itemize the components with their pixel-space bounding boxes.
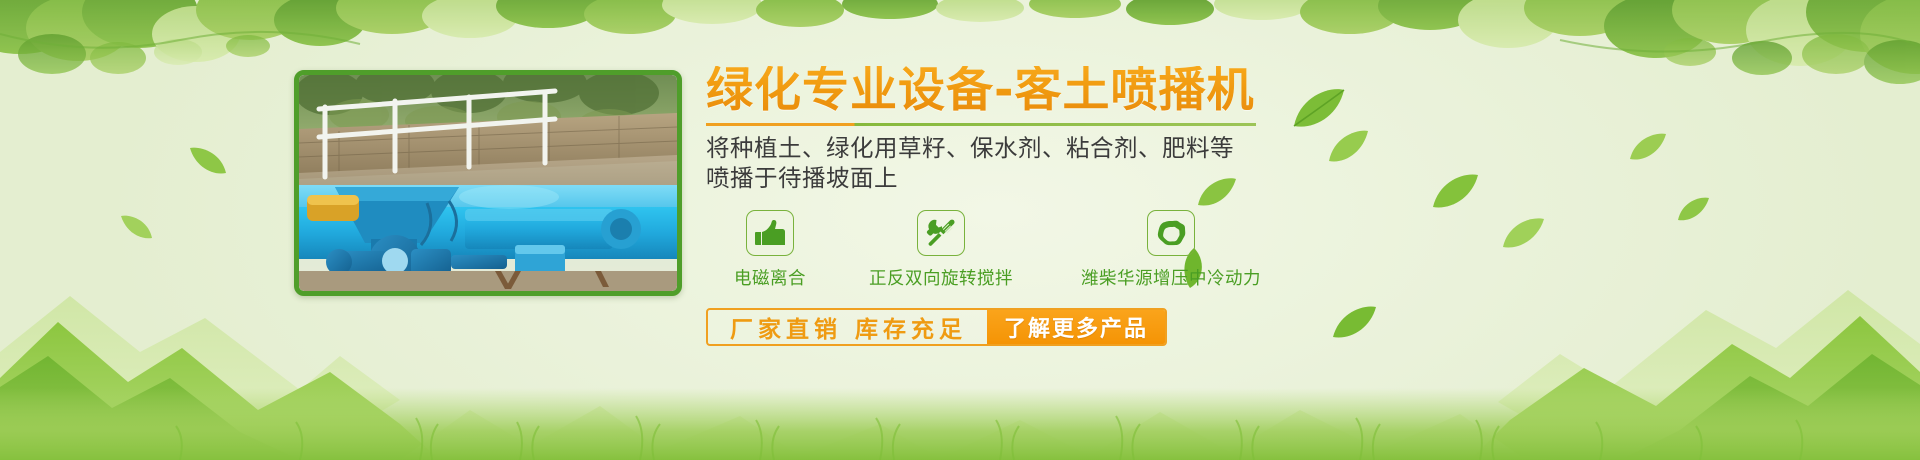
leaf-icon — [1500, 216, 1546, 252]
cta-slogan: 厂家直销 库存充足 — [708, 310, 987, 344]
learn-more-button[interactable]: 了解更多产品 — [987, 310, 1165, 344]
leaf-icon — [120, 214, 154, 242]
page-title: 绿化专业设备-客土喷播机 — [706, 66, 1466, 117]
feature-item: 正反双向旋转搅拌 — [834, 210, 1048, 290]
banner-content: 绿化专业设备-客土喷播机 将种植土、绿化用草籽、保水剂、粘合剂、肥料等 喷播于待… — [706, 66, 1466, 396]
leaf-icon — [1676, 196, 1710, 224]
feature-label: 潍柴华源增压中冷动力 — [1048, 265, 1294, 290]
leaf-icon — [188, 146, 228, 178]
title-divider — [706, 123, 1256, 126]
feature-list: 电磁离合 正反双向旋转搅拌 — [706, 210, 1466, 290]
thumbs-up-glyph — [755, 219, 785, 247]
subtitle-line-1: 将种植土、绿化用草籽、保水剂、粘合剂、肥料等 — [706, 134, 1234, 162]
feature-label: 正反双向旋转搅拌 — [834, 265, 1048, 290]
gear-glyph — [1156, 219, 1186, 247]
subtitle: 将种植土、绿化用草籽、保水剂、粘合剂、肥料等 喷播于待播坡面上 — [706, 133, 1466, 194]
wrench-screwdriver-icon — [917, 210, 965, 256]
feature-label: 电磁离合 — [706, 265, 834, 290]
feature-item: 电磁离合 — [706, 210, 834, 290]
leaf-icon — [1628, 132, 1668, 164]
feature-item: 潍柴华源增压中冷动力 — [1048, 210, 1294, 290]
product-photo-illustration — [299, 75, 677, 291]
product-photo-frame[interactable] — [294, 70, 682, 296]
thumbs-up-icon — [746, 210, 794, 256]
wrench-screwdriver-glyph — [926, 218, 956, 248]
product-photo — [299, 75, 677, 291]
gear-icon — [1147, 210, 1195, 256]
promo-banner: 绿化专业设备-客土喷播机 将种植土、绿化用草籽、保水剂、粘合剂、肥料等 喷播于待… — [0, 0, 1920, 460]
cta-bar: 厂家直销 库存充足 了解更多产品 — [706, 308, 1167, 346]
subtitle-line-2: 喷播于待播坡面上 — [706, 163, 1466, 194]
